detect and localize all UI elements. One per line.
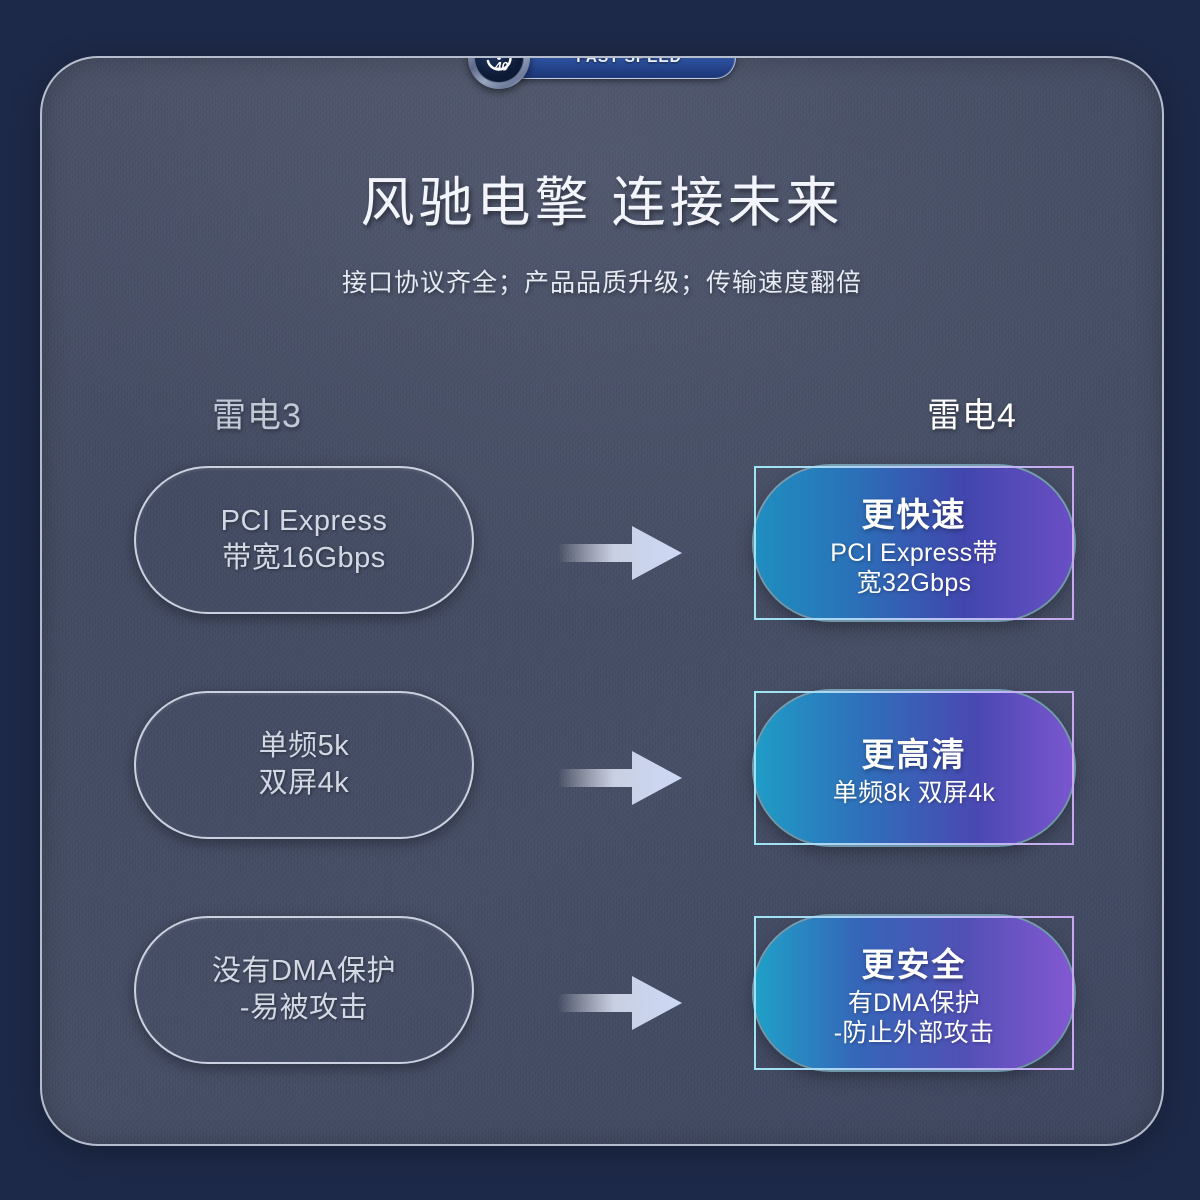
speed-number: 40 (494, 60, 509, 74)
comparison-row: 没有DMA保护 -易被攻击 (42, 910, 1162, 1135)
right-arrow-icon (558, 747, 686, 809)
comparison-row: 单频5k 双屏4k (42, 685, 1162, 910)
old-spec-line2: 带宽16Gbps (222, 540, 386, 577)
new-spec-line1: 有DMA保护 (848, 988, 980, 1018)
new-spec-line1: PCI Express带 (830, 538, 998, 568)
column-header-thunderbolt3: 雷电3 (212, 388, 302, 437)
column-header-thunderbolt4: 雷电4 (822, 388, 1122, 437)
new-spec-headline: 更快速 (862, 488, 967, 536)
old-spec-card: 单频5k 双屏4k (134, 691, 474, 839)
speedometer-icon: 40 (474, 56, 524, 83)
comparison-row: PCI Express 带宽16Gbps (42, 460, 1162, 685)
new-spec-headline: 更安全 (862, 938, 967, 986)
old-spec-line2: -易被攻击 (240, 990, 368, 1027)
fast-speed-label: FAST SPEED (576, 56, 681, 67)
old-spec-line2: 双屏4k (259, 765, 350, 802)
page-subtitle: 接口协议齐全；产品品质升级；传输速度翻倍 (42, 237, 1162, 299)
new-spec-line2: 宽32Gbps (857, 568, 972, 598)
content-panel: 40 FAST SPEED 风驰电擎 连接未来 接口协议齐全；产品品质升级；传输… (40, 56, 1164, 1146)
new-spec-line1: 单频8k 双屏4k (833, 778, 995, 808)
speedometer-medallion: 40 (468, 56, 530, 89)
new-spec-card: 更安全 有DMA保护 -防止外部攻击 (754, 916, 1074, 1070)
old-spec-card: PCI Express 带宽16Gbps (134, 466, 474, 614)
new-spec-headline: 更高清 (862, 728, 967, 776)
infographic-stage: 40 FAST SPEED 风驰电擎 连接未来 接口协议齐全；产品品质升级；传输… (0, 0, 1200, 1200)
comparison-rows: PCI Express 带宽16Gbps (42, 460, 1162, 1135)
new-spec-line2: -防止外部攻击 (834, 1018, 994, 1048)
column-headers: 雷电3 雷电4 (42, 388, 1162, 438)
new-spec-card: 更高清 单频8k 双屏4k (754, 691, 1074, 845)
old-spec-line1: PCI Express (221, 503, 388, 540)
fast-speed-badge: 40 FAST SPEED (42, 56, 1162, 90)
old-spec-line1: 单频5k (259, 728, 350, 765)
old-spec-card: 没有DMA保护 -易被攻击 (134, 916, 474, 1064)
old-spec-line1: 没有DMA保护 (212, 953, 396, 990)
right-arrow-icon (558, 972, 686, 1034)
right-arrow-icon (558, 522, 686, 584)
new-spec-card: 更快速 PCI Express带 宽32Gbps (754, 466, 1074, 620)
fast-speed-pill: FAST SPEED (504, 56, 736, 79)
